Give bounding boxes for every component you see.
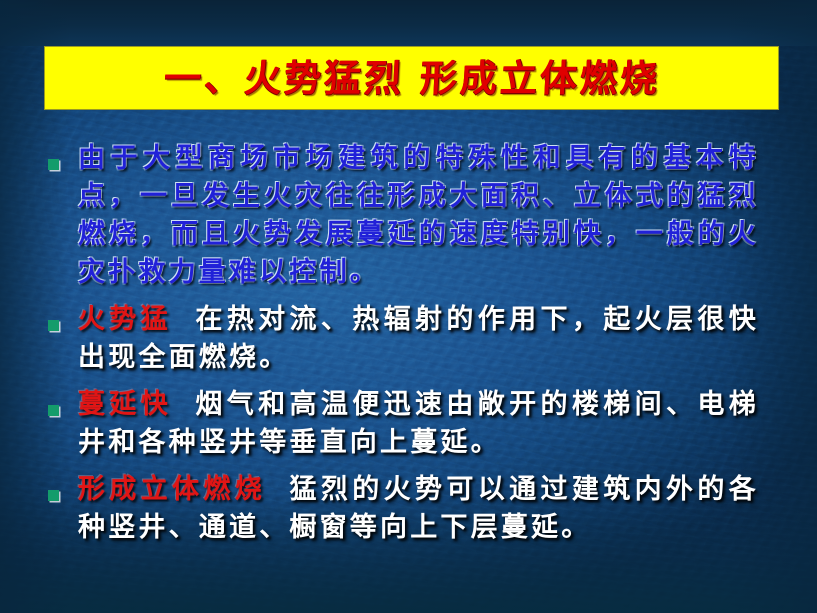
bullet-body-text: 烟气和高温便迅速由敞开的楼梯间、电梯井和各种竖井等垂直向上蔓延。 (78, 389, 759, 458)
bullet-body-text: 在热对流、热辐射的作用下，起火层很快出现全面燃烧。 (78, 304, 759, 373)
bullet-paragraph: 形成立体燃烧猛烈的火势可以通过建筑内外的各种竖井、通道、橱窗等向上下层蔓延。 (78, 471, 759, 547)
bullet-paragraph: 由于大型商场市场建筑的特殊性和具有的基本特点，一旦发生火灾往往形成大面积、立体式… (78, 140, 759, 292)
slide-body: 由于大型商场市场建筑的特殊性和具有的基本特点，一旦发生火灾往往形成大面积、立体式… (0, 140, 817, 556)
square-bullet-icon (48, 405, 59, 416)
presentation-slide: 一、火势猛烈 形成立体燃烧 由于大型商场市场建筑的特殊性和具有的基本特点，一旦发… (0, 0, 817, 613)
bullet-keyword: 火势猛 (78, 304, 172, 335)
bullet-body-text: 由于大型商场市场建筑的特殊性和具有的基本特点，一旦发生火灾往往形成大面积、立体式… (78, 143, 759, 288)
list-item: 火势猛在热对流、热辐射的作用下，起火层很快出现全面燃烧。 (0, 301, 817, 377)
title-banner: 一、火势猛烈 形成立体燃烧 (44, 46, 779, 110)
square-bullet-icon (48, 159, 59, 170)
square-bullet-icon (48, 490, 59, 501)
bullet-paragraph: 火势猛在热对流、热辐射的作用下，起火层很快出现全面燃烧。 (78, 301, 759, 377)
square-bullet-icon (48, 320, 59, 331)
list-item: 由于大型商场市场建筑的特殊性和具有的基本特点，一旦发生火灾往往形成大面积、立体式… (0, 140, 817, 292)
list-item: 蔓延快烟气和高温便迅速由敞开的楼梯间、电梯井和各种竖井等垂直向上蔓延。 (0, 386, 817, 462)
background-top-shade (0, 0, 817, 46)
bullet-paragraph: 蔓延快烟气和高温便迅速由敞开的楼梯间、电梯井和各种竖井等垂直向上蔓延。 (78, 386, 759, 462)
bullet-keyword: 形成立体燃烧 (78, 474, 266, 505)
list-item: 形成立体燃烧猛烈的火势可以通过建筑内外的各种竖井、通道、橱窗等向上下层蔓延。 (0, 471, 817, 547)
bullet-keyword: 蔓延快 (78, 389, 172, 420)
page-title: 一、火势猛烈 形成立体燃烧 (163, 60, 661, 97)
